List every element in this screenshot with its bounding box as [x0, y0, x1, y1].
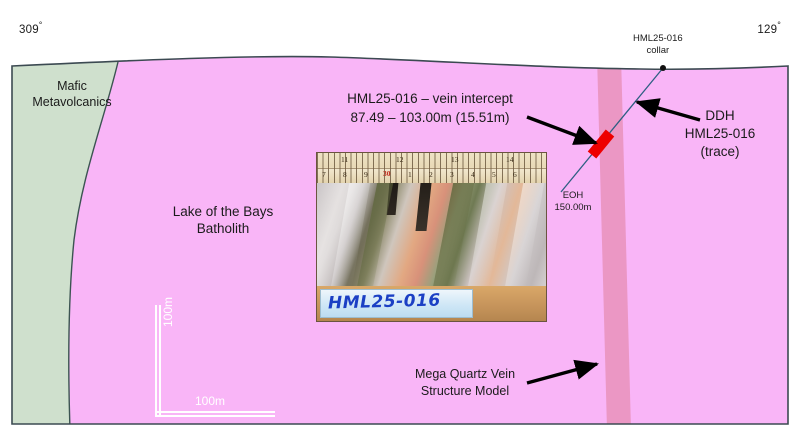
ruler-inch-label-2: 13 — [451, 155, 459, 164]
core-tray: HML25-016 — [317, 286, 546, 321]
eoh-label-line2: 150.00m — [543, 202, 603, 214]
end-of-hole-label: EOH 150.00m — [543, 190, 603, 215]
core-break-main — [415, 183, 432, 231]
scale-bar-horizontal-label: 100m — [195, 394, 225, 408]
scale-bar-horizontal — [155, 411, 275, 417]
unit-label-batholith-line1: Lake of the Bays — [133, 203, 313, 220]
ruler-cm-label-4: 1 — [408, 170, 412, 179]
core-quartz-streak-2 — [468, 183, 507, 288]
unit-label-quartz-vein: Mega Quartz Vein Structure Model — [385, 366, 545, 400]
ruler-cm-label-0: 7 — [322, 170, 326, 179]
ruler-cm-label-9: 6 — [513, 170, 517, 179]
collar-label-line2: collar — [633, 45, 683, 57]
ruler-cm-label-2: 9 — [364, 170, 368, 179]
bearing-left: 309° — [19, 20, 43, 36]
drillhole-collar-point — [660, 65, 666, 71]
unit-label-batholith-line2: Batholith — [133, 220, 313, 237]
eoh-label-line1: EOH — [543, 190, 603, 202]
unit-label-mafic-line1: Mafic — [22, 78, 122, 94]
cross-section-figure: 309° 129° HML25-016 collar Mafic Metavol… — [0, 0, 800, 435]
ruler-cm-label-8: 5 — [492, 170, 496, 179]
ruler-cm-label-3: 30 — [383, 169, 391, 178]
core-photo-inset: 11 12 13 14 7 8 9 30 1 2 3 4 5 6 HM — [316, 152, 547, 322]
ruler-icon: 11 12 13 14 7 8 9 30 1 2 3 4 5 6 — [317, 153, 546, 183]
scale-bar-vertical-label: 100m — [161, 297, 175, 327]
collar-label-line1: HML25-016 — [633, 33, 683, 45]
ruler-inch-label-1: 12 — [396, 155, 404, 164]
core-quartz-streak-3 — [505, 183, 544, 288]
vein-label-line2: Structure Model — [385, 383, 545, 400]
vein-label-line1: Mega Quartz Vein — [385, 366, 545, 383]
core-alteration-band-2 — [433, 183, 474, 288]
unit-label-batholith: Lake of the Bays Batholith — [133, 203, 313, 238]
ruler-cm-label-7: 4 — [471, 170, 475, 179]
unit-label-mafic-metavolcanics: Mafic Metavolcanics — [22, 78, 122, 111]
degree-symbol-right: ° — [777, 20, 781, 30]
ruler-inch-label-3: 14 — [506, 155, 514, 164]
ruler-cm-label-6: 3 — [450, 170, 454, 179]
core-tag: HML25-016 — [320, 289, 473, 318]
bearing-right-value: 129 — [757, 24, 777, 36]
intercept-label-line1: HML25-016 – vein intercept — [325, 90, 535, 109]
core-tag-text: HML25-016 — [328, 291, 441, 314]
degree-symbol-left: ° — [39, 20, 43, 30]
vein-intercept-label: HML25-016 – vein intercept 87.49 – 103.0… — [325, 90, 535, 127]
drill-core-image — [317, 183, 546, 288]
intercept-label-line2: 87.49 – 103.00m (15.51m) — [325, 109, 535, 128]
ddh-label-line1: DDH — [660, 107, 780, 125]
drillhole-collar-label: HML25-016 collar — [633, 33, 683, 57]
scale-bar: 100m 100m — [155, 305, 275, 417]
bearing-left-value: 309 — [19, 24, 39, 36]
drillhole-trace-label: DDH HML25-016 (trace) — [660, 107, 780, 162]
ruler-cm-label-5: 2 — [429, 170, 433, 179]
ruler-cm-label-1: 8 — [343, 170, 347, 179]
unit-label-mafic-line2: Metavolcanics — [22, 94, 122, 110]
ruler-inch-label-0: 11 — [341, 155, 348, 164]
ddh-label-line3: (trace) — [660, 143, 780, 161]
ddh-label-line2: HML25-016 — [660, 125, 780, 143]
bearing-right: 129° — [757, 20, 781, 36]
